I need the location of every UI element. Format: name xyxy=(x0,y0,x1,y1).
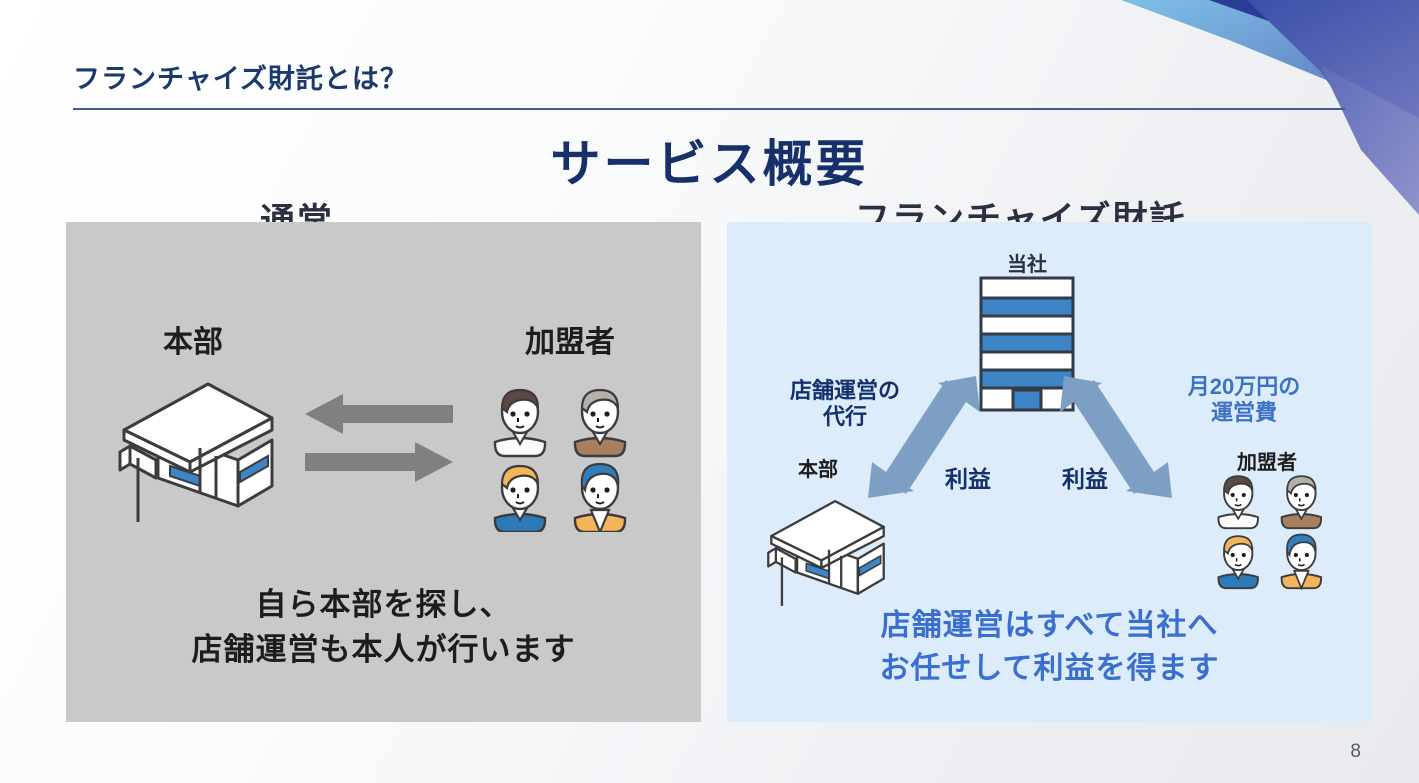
monthly-fee-label: 月20万円の 運営費 xyxy=(1180,374,1308,426)
franchisee-group xyxy=(483,382,635,532)
unei-line2: 運営費 xyxy=(1180,400,1308,426)
page-number: 8 xyxy=(1350,741,1361,763)
left-caption-line1: 自ら本部を探し、 xyxy=(66,583,701,628)
slide-canvas: フランチャイズ財託とは？ サービス概要 通常 本部 加盟者 xyxy=(0,0,1419,783)
left-panel-caption: 自ら本部を探し、 店舗運営も本人が行います xyxy=(66,583,701,673)
left-panel-arrows xyxy=(305,392,453,484)
franchisee-group-right xyxy=(1209,468,1329,590)
right-panel-caption: 店舗運営はすべて当社へ お任せして利益を得ます xyxy=(727,605,1372,690)
left-franchisee-label: 加盟者 xyxy=(525,325,615,360)
main-title: サービス概要 xyxy=(0,124,1419,196)
company-label: 当社 xyxy=(1007,254,1047,278)
daiko-line1: 店舗運営の xyxy=(781,378,909,404)
store-icon-right xyxy=(762,492,890,612)
left-hq-label: 本部 xyxy=(163,325,223,360)
unei-line1: 月20万円の xyxy=(1180,374,1308,400)
right-hq-label: 本部 xyxy=(798,459,838,483)
page-title: フランチャイズ財託とは？ xyxy=(73,57,408,96)
profit-label-left: 利益 xyxy=(945,466,991,493)
right-caption-line2: お任せして利益を得ます xyxy=(727,648,1372,691)
profit-label-right: 利益 xyxy=(1062,466,1108,493)
header-divider xyxy=(73,108,1345,110)
store-icon xyxy=(112,372,280,530)
arrow-left-icon xyxy=(305,394,453,434)
arrow-right-icon xyxy=(305,442,453,482)
daiko-line2: 代行 xyxy=(781,404,909,430)
store-operation-agency-label: 店舗運営の 代行 xyxy=(781,378,909,430)
left-caption-line2: 店舗運営も本人が行います xyxy=(66,628,701,673)
right-caption-line1: 店舗運営はすべて当社へ xyxy=(727,605,1372,648)
